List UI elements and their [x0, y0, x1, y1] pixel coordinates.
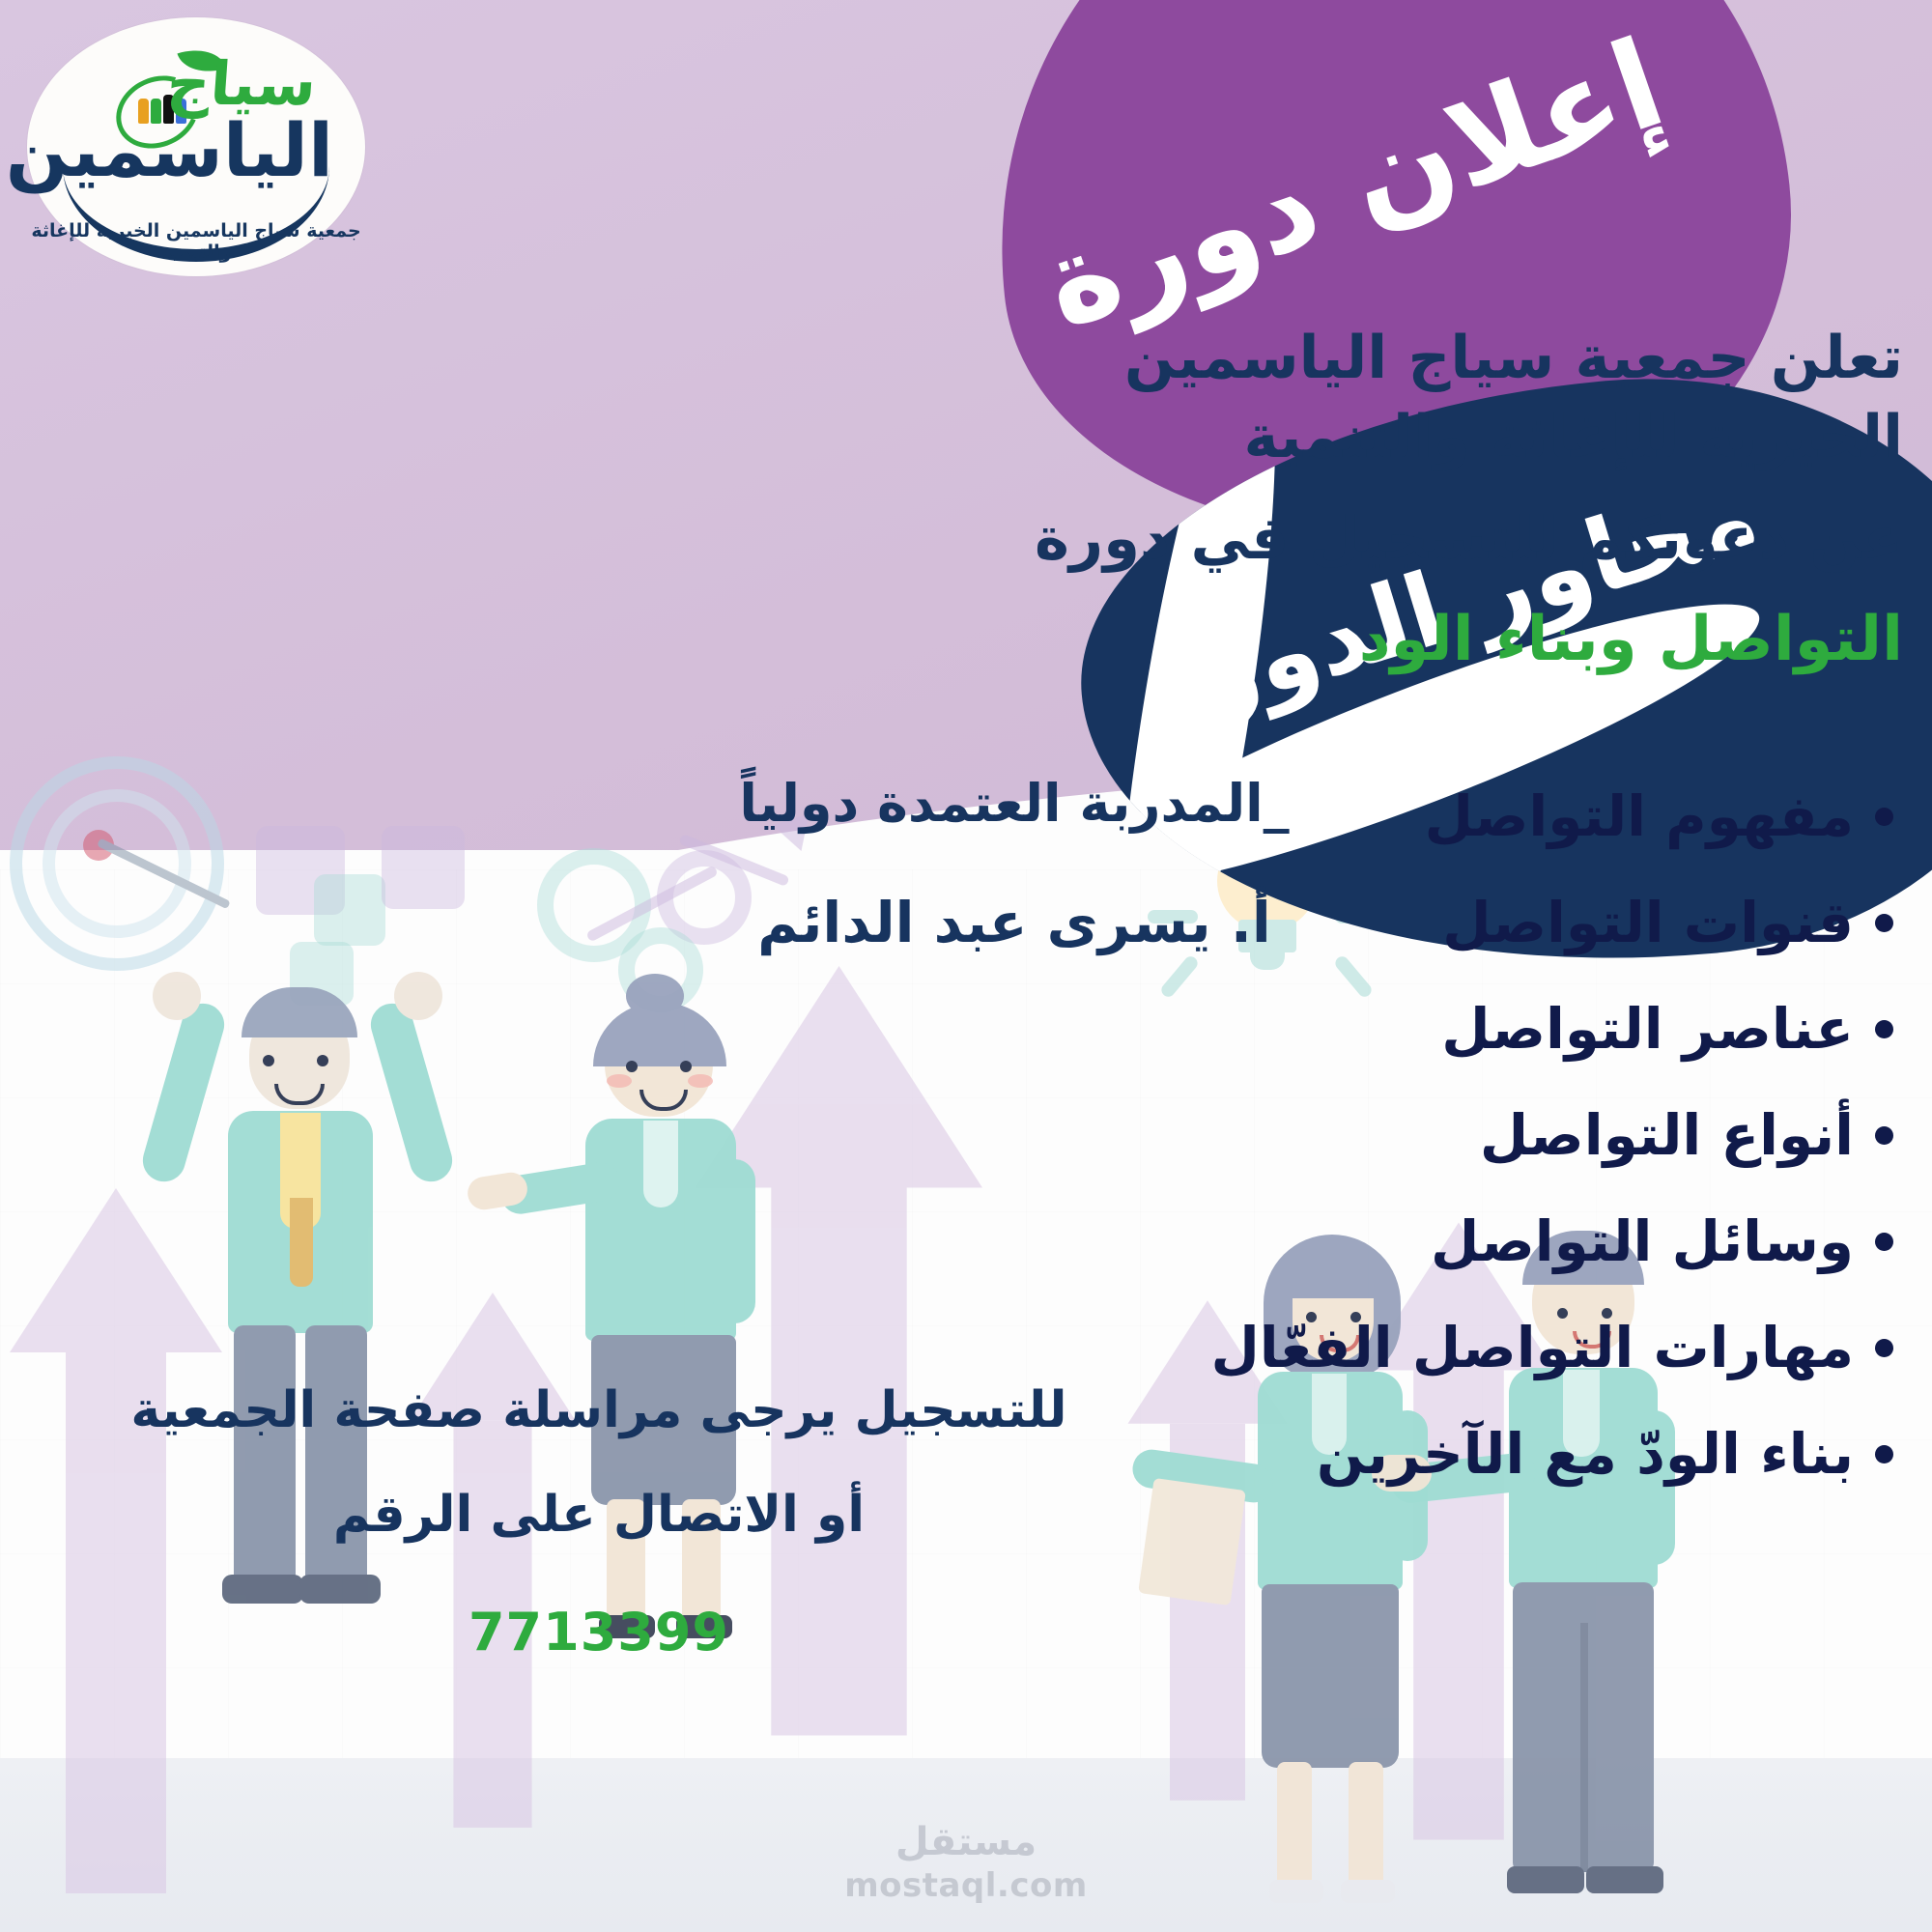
bullet-dot-icon [1875, 914, 1893, 932]
bullet-dot-icon [1875, 1020, 1893, 1038]
organization-logo: سياج الياسمين جمعية سياج الياسمين الخيري… [27, 17, 365, 276]
registration-line-1: للتسجيل يرجى مراسلة صفحة الجمعية [116, 1381, 1082, 1439]
trainer-name: أ. يسرى عبد الدائم [551, 890, 1478, 955]
topic-item: وسائل التواصل [1063, 1188, 1893, 1294]
bullet-dot-icon [1875, 1126, 1893, 1145]
bullet-dot-icon [1875, 808, 1893, 826]
topic-item: أنواع التواصل [1063, 1082, 1893, 1188]
bullet-dot-icon [1875, 1233, 1893, 1251]
watermark-arabic: مستقل [844, 1820, 1088, 1864]
course-title: التواصل وبناء الود [937, 600, 1903, 680]
poster-canvas: سياج الياسمين جمعية سياج الياسمين الخيري… [0, 0, 1932, 1932]
topic-item: مهارات التواصل الفعّال [1063, 1294, 1893, 1401]
topic-label: قنوات التواصل [1442, 890, 1854, 955]
registration-line-2: أو الاتصال على الرقم [116, 1486, 1082, 1544]
logo-tagline: جمعية سياج الياسمين الخيرية للإغاثة والت… [27, 220, 365, 263]
trainer-role: _المدربة العتمدة دولياً [551, 773, 1478, 834]
bullet-dot-icon [1875, 1339, 1893, 1357]
headline-line-1: تعلن جمعية سياج الياسمين الخيرية للإغاثة… [937, 319, 1903, 476]
topic-label: عناصر التواصل [1441, 996, 1854, 1062]
topic-label: مهارات التواصل الفعّال [1210, 1315, 1854, 1380]
topic-label: وسائل التواصل [1431, 1208, 1854, 1274]
topic-label: بناء الودّ مع الآخرين [1317, 1421, 1854, 1487]
trainer-block: _المدربة العتمدة دولياً أ. يسرى عبد الدا… [551, 773, 1478, 955]
logo-word-siyaj: سياج [165, 54, 319, 114]
topic-label: أنواع التواصل [1480, 1102, 1854, 1168]
watermark: مستقل mostaql.com [844, 1820, 1088, 1905]
topic-item: عناصر التواصل [1063, 976, 1893, 1082]
headline-line-2: عن دعوتكم للتسجيل في دورة [937, 499, 1903, 579]
topic-item: بناء الودّ مع الآخرين [1063, 1401, 1893, 1507]
watermark-domain: mostaql.com [844, 1866, 1088, 1905]
headline-block: تعلن جمعية سياج الياسمين الخيرية للإغاثة… [937, 319, 1903, 680]
topic-label: مفهوم التواصل [1425, 783, 1854, 849]
logo-artwork: سياج الياسمين [42, 50, 351, 243]
bullet-dot-icon [1875, 1445, 1893, 1463]
contact-phone-number[interactable]: 7713399 [116, 1602, 1082, 1662]
registration-block: للتسجيل يرجى مراسلة صفحة الجمعية أو الات… [116, 1381, 1082, 1662]
